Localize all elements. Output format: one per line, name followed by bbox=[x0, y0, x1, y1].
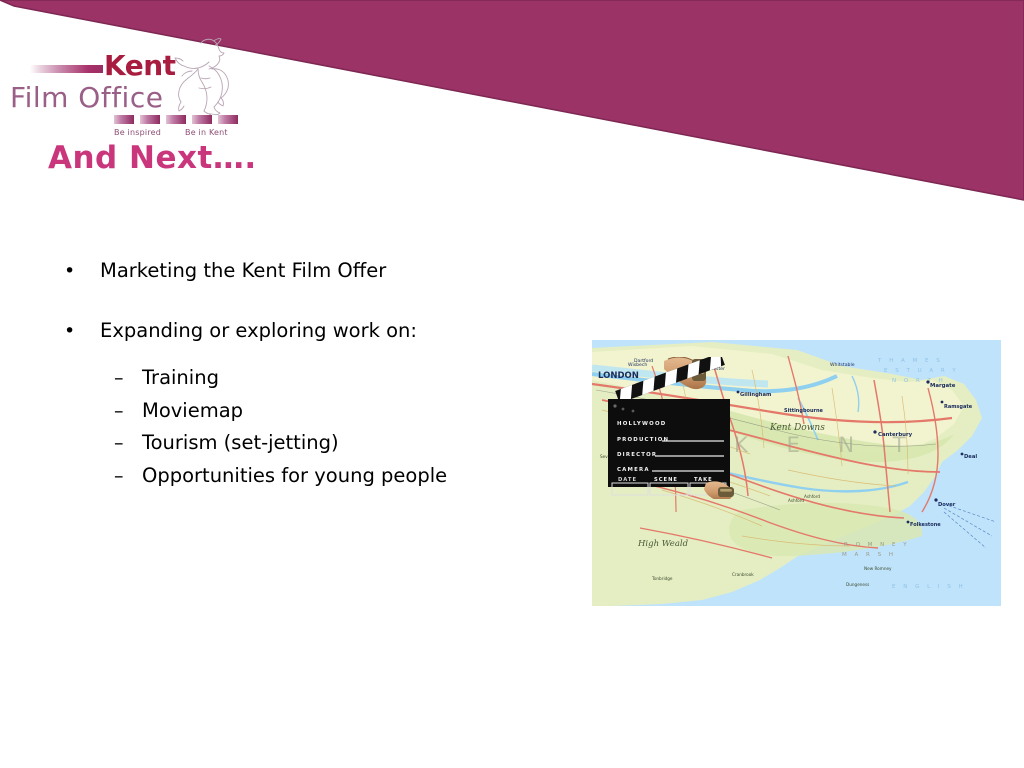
list-item-label: Marketing the Kent Film Offer bbox=[100, 259, 386, 282]
list-item-label: Moviemap bbox=[142, 399, 243, 422]
bullet-list-level2: – Training – Moviemap – Tourism (set-jet… bbox=[104, 362, 564, 492]
svg-text:Folkestone: Folkestone bbox=[910, 522, 941, 528]
clapper-col-scene: SCENE bbox=[654, 477, 678, 483]
kent-film-office-logo: Kent Film Office bbox=[8, 38, 238, 143]
slide-canvas: Kent Film Office bbox=[0, 0, 1024, 768]
svg-text:R O M N E Y: R O M N E Y bbox=[844, 542, 910, 548]
logo-dash bbox=[218, 115, 238, 124]
svg-text:Dungeness: Dungeness bbox=[846, 582, 869, 587]
svg-text:Ashford: Ashford bbox=[788, 498, 804, 503]
list-item-label: Expanding or exploring work on: bbox=[100, 319, 417, 342]
svg-text:Whitstable: Whitstable bbox=[830, 362, 855, 368]
svg-text:Ashford: Ashford bbox=[804, 494, 820, 499]
dash-marker-icon: – bbox=[114, 427, 124, 460]
rearing-horse-icon bbox=[168, 36, 230, 118]
svg-text:E N G L I S H: E N G L I S H bbox=[892, 584, 966, 590]
list-item: – Tourism (set-jetting) bbox=[104, 427, 564, 460]
logo-tagline-be-in-kent: Be in Kent bbox=[185, 128, 228, 137]
page-title: And Next…. bbox=[48, 140, 257, 176]
logo-tagline-be-inspired: Be inspired bbox=[114, 128, 161, 137]
logo-film-office-text: Film Office bbox=[10, 82, 163, 114]
clapper-col-date: DATE bbox=[618, 477, 637, 483]
logo-dash bbox=[114, 115, 134, 124]
list-item-label: Tourism (set-jetting) bbox=[142, 431, 339, 454]
svg-text:Dover: Dover bbox=[938, 502, 956, 508]
bullet-marker-icon: • bbox=[64, 258, 75, 284]
svg-text:E S T U A R Y: E S T U A R Y bbox=[884, 368, 959, 374]
svg-text:Sittingbourne: Sittingbourne bbox=[784, 408, 824, 414]
logo-kent-text: Kent bbox=[104, 50, 176, 82]
dash-marker-icon: – bbox=[114, 460, 124, 493]
clapper-line-hollywood: HOLLYWOOD bbox=[617, 421, 666, 427]
svg-text:Cranbrook: Cranbrook bbox=[732, 572, 754, 577]
list-item: • Marketing the Kent Film Offer bbox=[58, 258, 578, 284]
logo-dash-row bbox=[114, 115, 240, 124]
bullet-list-level1: • Marketing the Kent Film Offer • Expand… bbox=[58, 258, 578, 344]
list-item: – Training bbox=[104, 362, 564, 395]
svg-text:Canterbury: Canterbury bbox=[878, 432, 913, 438]
list-item: • Expanding or exploring work on: bbox=[58, 318, 578, 344]
svg-text:Ramsgate: Ramsgate bbox=[944, 404, 973, 410]
dash-marker-icon: – bbox=[114, 395, 124, 428]
svg-text:Margate: Margate bbox=[930, 383, 956, 389]
list-item-label: Opportunities for young people bbox=[142, 464, 447, 487]
logo-dash bbox=[166, 115, 186, 124]
bullet-marker-icon: • bbox=[64, 318, 75, 344]
logo-dash bbox=[140, 115, 160, 124]
list-item: – Moviemap bbox=[104, 395, 564, 428]
list-item-label: Training bbox=[142, 366, 219, 389]
svg-text:New Romney: New Romney bbox=[864, 566, 892, 571]
kent-map-image: K E N T T H A M E S E S T U A R Y N O R … bbox=[592, 340, 1001, 606]
clapper-line-director: DIRECTOR bbox=[617, 452, 657, 458]
clapper-line-camera: CAMERA bbox=[617, 467, 650, 473]
logo-dash bbox=[192, 115, 212, 124]
svg-text:Tonbridge: Tonbridge bbox=[651, 576, 673, 581]
svg-text:T H A M E S: T H A M E S bbox=[877, 358, 943, 364]
logo-gradient-bar bbox=[30, 65, 103, 73]
dash-marker-icon: – bbox=[114, 362, 124, 395]
clapperboard-graphic: HOLLYWOOD PRODUCTION DIRECTOR CAMERA DAT… bbox=[606, 357, 758, 499]
svg-text:High Weald: High Weald bbox=[637, 539, 689, 549]
svg-text:Kent Downs: Kent Downs bbox=[769, 423, 825, 433]
svg-text:M A R S H: M A R S H bbox=[842, 552, 896, 558]
list-item: – Opportunities for young people bbox=[104, 460, 564, 493]
svg-text:Deal: Deal bbox=[964, 454, 977, 460]
clapper-line-production: PRODUCTION bbox=[617, 437, 669, 443]
